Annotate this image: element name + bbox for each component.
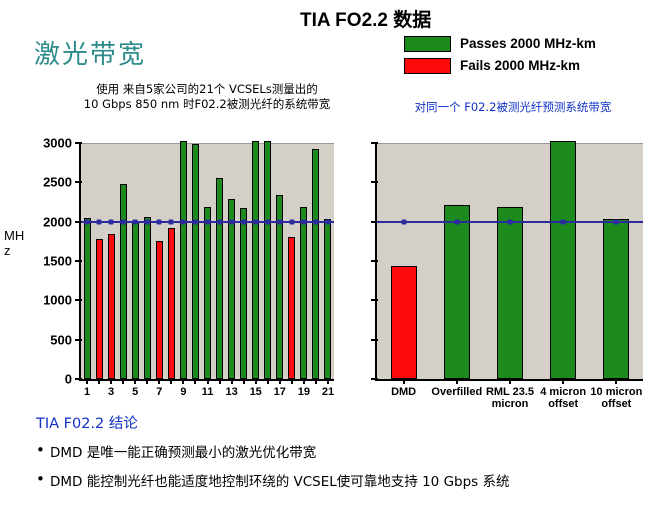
x-axis-tick — [170, 379, 172, 384]
bullet-dot-icon: • — [36, 470, 50, 488]
bar-left-1 — [84, 218, 91, 379]
chart-left-vcsel-measurements: 0500100015002000250030001357911131517192… — [34, 138, 346, 400]
y-axis-title-line-1: MH — [4, 228, 30, 243]
bar-left-11 — [204, 207, 211, 379]
y-axis-tick-label: 2000 — [43, 214, 72, 229]
conclusion-bullet-2-text: DMD 能控制光纤也能适度地控制环绕的 VCSEL使可靠地支持 10 Gbps … — [50, 470, 510, 490]
x-axis-tick — [182, 379, 184, 384]
left-caption-line-1: 使用 来自5家公司的21个 VCSELs测量出的 — [62, 82, 352, 97]
y-axis-tick-label: 2500 — [43, 175, 72, 190]
threshold-marker — [229, 219, 234, 224]
threshold-marker — [325, 219, 330, 224]
bar-left-20 — [312, 149, 319, 379]
x-axis-tick — [509, 379, 511, 384]
x-axis-label-line: 10 micron — [587, 386, 645, 398]
y-axis-tick-label: 0 — [65, 372, 72, 387]
threshold-marker — [181, 219, 186, 224]
bar-right-5 — [603, 219, 629, 379]
x-axis-tick — [403, 379, 405, 384]
threshold-marker — [277, 219, 282, 224]
legend-swatch-fail — [404, 58, 451, 74]
threshold-marker — [157, 219, 162, 224]
threshold-marker — [133, 219, 138, 224]
y-axis-tick-label: 500 — [50, 332, 72, 347]
x-axis-label: Overfilled — [428, 386, 486, 398]
x-axis-tick — [267, 379, 269, 384]
x-axis-tick — [110, 379, 112, 384]
x-axis-label: 11 — [202, 386, 214, 398]
threshold-marker — [241, 219, 246, 224]
threshold-marker — [145, 219, 150, 224]
x-axis-label-line: 4 micron — [534, 386, 592, 398]
x-axis-tick — [194, 379, 196, 384]
threshold-marker — [289, 219, 294, 224]
x-axis-label: 17 — [274, 386, 286, 398]
y-axis-tick — [75, 299, 82, 301]
bar-left-7 — [156, 241, 163, 379]
legend-item-pass: Passes 2000 MHz-km — [404, 34, 654, 53]
y-axis-title: MHz — [4, 228, 30, 258]
threshold-marker — [109, 219, 114, 224]
x-axis-label-line: DMD — [375, 386, 433, 398]
bullet-dot-icon: • — [36, 441, 50, 459]
y-axis-tick — [75, 339, 82, 341]
x-axis-label: 4 micronoffset — [534, 386, 592, 410]
x-axis-label-line: Overfilled — [428, 386, 486, 398]
threshold-marker — [121, 219, 126, 224]
plot-area-left: 0500100015002000250030001357911131517192… — [79, 143, 334, 381]
bar-left-16 — [264, 141, 271, 379]
x-axis-tick — [122, 379, 124, 384]
bar-right-2 — [444, 205, 470, 379]
threshold-marker — [217, 219, 222, 224]
bar-left-6 — [144, 217, 151, 379]
x-axis-label: 3 — [108, 386, 114, 398]
x-axis-tick — [279, 379, 281, 384]
threshold-marker — [253, 219, 258, 224]
x-axis-tick — [303, 379, 305, 384]
threshold-marker — [169, 219, 174, 224]
threshold-marker — [313, 219, 318, 224]
y-axis-tick — [371, 181, 378, 183]
threshold-marker — [85, 219, 90, 224]
page-title: TIA FO2.2 数据 — [300, 5, 560, 32]
bar-left-18 — [288, 237, 295, 379]
x-axis-tick — [562, 379, 564, 384]
chart-legend: Passes 2000 MHz-km Fails 2000 MHz-km — [404, 34, 654, 78]
x-axis-tick — [207, 379, 209, 384]
y-axis-tick — [371, 299, 378, 301]
y-axis-tick — [75, 181, 82, 183]
x-axis-tick — [327, 379, 329, 384]
x-axis-label: RML 23.5micron — [481, 386, 539, 410]
bar-left-9 — [180, 141, 187, 379]
x-axis-tick — [456, 379, 458, 384]
left-caption-line-2: 10 Gbps 850 nm 时F02.2被测光纤的系统带宽 — [62, 97, 352, 112]
plot-top-rule-right — [377, 143, 643, 144]
conclusion-bullet-1: •DMD 是唯一能正确预测最小的激光优化带宽 — [36, 441, 646, 461]
x-axis-label: 5 — [132, 386, 138, 398]
y-axis-tick — [75, 260, 82, 262]
bar-left-19 — [300, 207, 307, 379]
bar-left-13 — [228, 199, 235, 379]
threshold-marker — [401, 219, 406, 224]
bar-left-4 — [120, 184, 127, 379]
bar-left-14 — [240, 208, 247, 379]
legend-label-pass: Passes 2000 MHz-km — [460, 36, 596, 51]
slide-root: TIA FO2.2 数据 激光带宽 Passes 2000 MHz-km Fai… — [0, 0, 660, 506]
bar-left-21 — [324, 219, 331, 379]
y-axis-tick — [371, 260, 378, 262]
legend-item-fail: Fails 2000 MHz-km — [404, 56, 654, 75]
bar-left-3 — [108, 234, 115, 379]
x-axis-label-line: offset — [587, 398, 645, 410]
y-axis-tick — [371, 339, 378, 341]
threshold-marker — [97, 219, 102, 224]
y-axis-tick — [371, 142, 378, 144]
x-axis-label: 9 — [180, 386, 186, 398]
threshold-marker — [614, 219, 619, 224]
bar-left-12 — [216, 178, 223, 379]
legend-label-fail: Fails 2000 MHz-km — [460, 58, 580, 73]
conclusion-bullet-2: •DMD 能控制光纤也能适度地控制环绕的 VCSEL使可靠地支持 10 Gbps… — [36, 470, 646, 490]
bar-left-15 — [252, 141, 259, 379]
x-axis-label: 15 — [250, 386, 262, 398]
x-axis-label: 7 — [156, 386, 162, 398]
x-axis-tick — [86, 379, 88, 384]
chart-right-prediction-methods: DMDOverfilledRML 23.5micron4 micronoffse… — [360, 138, 655, 400]
bar-right-3 — [497, 207, 523, 379]
x-axis-label: 13 — [225, 386, 237, 398]
x-axis-tick — [98, 379, 100, 384]
x-axis-tick — [158, 379, 160, 384]
y-axis-tick — [371, 378, 378, 380]
x-axis-tick — [291, 379, 293, 384]
x-axis-label: 19 — [298, 386, 310, 398]
threshold-marker — [508, 219, 513, 224]
threshold-marker — [454, 219, 459, 224]
x-axis-tick — [315, 379, 317, 384]
plot-area-right: DMDOverfilledRML 23.5micron4 micronoffse… — [375, 143, 643, 381]
y-axis-tick-label: 1500 — [43, 254, 72, 269]
threshold-marker — [265, 219, 270, 224]
threshold-marker — [193, 219, 198, 224]
y-axis-tick-label: 1000 — [43, 293, 72, 308]
deck-title: 激光带宽 — [34, 34, 146, 71]
x-axis-label: 10 micronoffset — [587, 386, 645, 410]
y-axis-tick — [75, 378, 82, 380]
plot-top-rule-left — [81, 143, 334, 144]
bar-left-10 — [192, 144, 199, 379]
left-chart-caption: 使用 来自5家公司的21个 VCSELs测量出的 10 Gbps 850 nm … — [62, 82, 352, 112]
threshold-marker — [561, 219, 566, 224]
x-axis-tick — [255, 379, 257, 384]
bar-right-4 — [550, 141, 576, 379]
conclusions-heading: TIA F02.2 结论 — [36, 412, 138, 433]
bar-left-8 — [168, 228, 175, 379]
x-axis-label-line: RML 23.5 — [481, 386, 539, 398]
y-axis-tick-label: 3000 — [43, 136, 72, 151]
y-axis-title-line-2: z — [4, 243, 30, 258]
x-axis-tick — [243, 379, 245, 384]
x-axis-tick — [146, 379, 148, 384]
bar-left-2 — [96, 239, 103, 379]
x-axis-label: DMD — [375, 386, 433, 398]
bar-right-1 — [391, 266, 417, 379]
x-axis-label: 21 — [322, 386, 334, 398]
x-axis-tick — [134, 379, 136, 384]
bar-left-5 — [132, 222, 139, 379]
threshold-marker — [301, 219, 306, 224]
x-axis-tick — [231, 379, 233, 384]
y-axis-tick — [75, 142, 82, 144]
threshold-marker — [205, 219, 210, 224]
x-axis-label-line: micron — [481, 398, 539, 410]
conclusion-bullet-1-text: DMD 是唯一能正确预测最小的激光优化带宽 — [50, 441, 316, 461]
x-axis-label-line: offset — [534, 398, 592, 410]
right-chart-caption: 对同一个 F02.2被测光纤预测系统带宽 — [382, 100, 644, 115]
x-axis-tick — [219, 379, 221, 384]
legend-swatch-pass — [404, 36, 451, 52]
x-axis-tick — [615, 379, 617, 384]
x-axis-label: 1 — [84, 386, 90, 398]
